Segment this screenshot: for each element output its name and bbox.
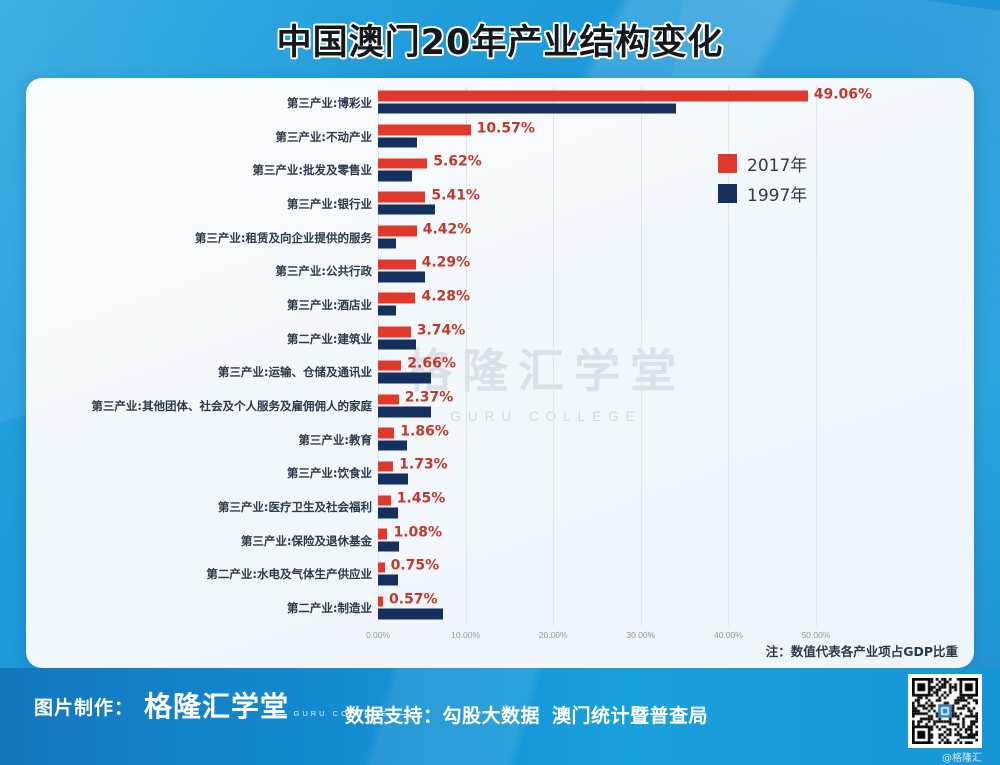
bar-1997	[378, 238, 396, 249]
bar-value-label: 3.74%	[417, 322, 466, 338]
bar-2017	[378, 125, 471, 136]
bar-value-label: 2.37%	[405, 390, 454, 406]
chart-row: 第三产业:教育1.86%	[26, 423, 974, 457]
bar-1997	[378, 305, 396, 316]
bar-group: 4.28%	[378, 291, 974, 318]
bar-chart-plot: 第三产业:博彩业49.06%第三产业:不动产业10.57%第三产业:批发及零售业…	[26, 78, 974, 668]
bar-group: 2.37%	[378, 393, 974, 420]
bar-value-label: 4.28%	[421, 288, 470, 304]
chart-row: 第三产业:不动产业10.57%	[26, 120, 974, 154]
chart-row: 第三产业:运输、仓储及通讯业2.66%	[26, 356, 974, 390]
bar-1997	[378, 339, 416, 350]
qr-code-icon[interactable]	[908, 674, 982, 748]
bar-2017	[378, 360, 401, 371]
bar-group: 1.73%	[378, 460, 974, 487]
chart-row: 第三产业:保险及退休基金1.08%	[26, 524, 974, 558]
qr-block[interactable]: @格隆汇	[908, 674, 982, 764]
legend-swatch-icon	[718, 184, 737, 203]
bar-1997	[378, 204, 435, 215]
bar-1997	[378, 373, 431, 384]
chart-footnote: 注：数值代表各产业项占GDP比重	[766, 641, 958, 660]
category-label: 第三产业:不动产业	[26, 129, 372, 145]
bar-2017	[378, 259, 416, 270]
bar-2017	[378, 461, 393, 472]
bar-value-label: 49.06%	[814, 86, 872, 102]
x-axis-tick: 0.00%	[366, 630, 390, 640]
chart-row: 第三产业:租赁及向企业提供的服务4.42%	[26, 221, 974, 255]
source-prefix-label: 数据支持：	[345, 705, 443, 727]
category-label: 第三产业:医疗卫生及社会福利	[26, 499, 372, 515]
bar-2017	[378, 293, 415, 304]
title-bar: 中国澳门20年产业结构变化	[0, 14, 1000, 65]
legend-label: 1997年	[747, 181, 807, 206]
chart-row: 第二产业:建筑业3.74%	[26, 322, 974, 356]
category-label: 第三产业:公共行政	[26, 263, 372, 279]
bar-2017	[378, 394, 399, 405]
bar-2017	[378, 91, 808, 102]
chart-title: 中国澳门20年产业结构变化	[277, 14, 724, 65]
bar-value-label: 1.73%	[399, 457, 448, 473]
bar-value-label: 5.41%	[431, 187, 480, 203]
category-label: 第三产业:租赁及向企业提供的服务	[26, 230, 372, 246]
category-label: 第三产业:其他团体、社会及个人服务及雇佣佣人的家庭	[26, 398, 372, 414]
legend-label: 2017年	[747, 151, 807, 176]
bar-1997	[378, 474, 408, 485]
bar-2017	[378, 495, 391, 506]
chart-card: 格隆汇学堂 GURU COLLEGE 第三产业:博彩业49.06%第三产业:不动…	[26, 78, 974, 668]
bar-group: 0.75%	[378, 561, 974, 588]
bar-group: 4.42%	[378, 224, 974, 251]
data-source-credit: 数据支持：勾股大数据澳门统计暨普查局	[345, 701, 708, 728]
bar-1997	[378, 171, 412, 182]
bar-2017	[378, 562, 385, 573]
bar-value-label: 5.62%	[433, 154, 482, 170]
bar-group: 3.74%	[378, 325, 974, 352]
qr-handle-label: @格隆汇	[908, 749, 982, 764]
bar-1997	[378, 137, 417, 148]
bar-1997	[378, 103, 676, 114]
category-label: 第二产业:水电及气体生产供应业	[26, 566, 372, 582]
category-label: 第三产业:银行业	[26, 196, 372, 212]
chart-row: 第三产业:饮食业1.73%	[26, 457, 974, 491]
category-label: 第二产业:建筑业	[26, 331, 372, 347]
chart-row: 第三产业:其他团体、社会及个人服务及雇佣佣人的家庭2.37%	[26, 389, 974, 423]
bar-value-label: 0.57%	[389, 592, 438, 608]
bar-value-label: 1.86%	[400, 423, 449, 439]
chart-row: 第二产业:制造业0.57%	[26, 591, 974, 625]
chart-row: 第二产业:水电及气体生产供应业0.75%	[26, 558, 974, 592]
brand-name-cn: 格隆汇学堂	[144, 690, 289, 723]
bar-2017	[378, 158, 427, 169]
legend-item[interactable]: 2017年	[718, 148, 807, 178]
chart-legend: 2017年1997年	[718, 148, 807, 208]
chart-row: 第三产业:银行业5.41%	[26, 187, 974, 221]
bar-2017	[378, 428, 394, 439]
bar-group: 1.86%	[378, 426, 974, 453]
bar-group: 2.66%	[378, 359, 974, 386]
x-axis: 0.00%10.00%20.00%30.00%40.00%50.00%	[378, 626, 816, 648]
bar-2017	[378, 327, 411, 338]
x-axis-tick: 50.00%	[802, 630, 831, 640]
legend-swatch-icon	[718, 154, 737, 173]
x-axis-tick: 20.00%	[539, 630, 568, 640]
bar-1997	[378, 609, 443, 620]
bar-2017	[378, 226, 417, 237]
legend-item[interactable]: 1997年	[718, 178, 807, 208]
bar-value-label: 1.08%	[393, 524, 442, 540]
bar-2017	[378, 192, 425, 203]
category-label: 第三产业:批发及零售业	[26, 162, 372, 178]
category-label: 第三产业:饮食业	[26, 465, 372, 481]
x-axis-tick: 10.00%	[451, 630, 480, 640]
bar-1997	[378, 272, 425, 283]
bar-value-label: 1.45%	[397, 491, 446, 507]
bar-group: 4.29%	[378, 258, 974, 285]
bar-group: 1.45%	[378, 494, 974, 521]
category-label: 第三产业:酒店业	[26, 297, 372, 313]
category-label: 第三产业:保险及退休基金	[26, 533, 372, 549]
bar-group: 1.08%	[378, 527, 974, 554]
bar-2017	[378, 596, 383, 607]
maker-prefix-label: 图片制作：	[34, 693, 134, 720]
category-label: 第三产业:运输、仓储及通讯业	[26, 364, 372, 380]
bar-rows: 第三产业:博彩业49.06%第三产业:不动产业10.57%第三产业:批发及零售业…	[26, 86, 974, 625]
chart-row: 第三产业:酒店业4.28%	[26, 288, 974, 322]
bar-group: 0.57%	[378, 595, 974, 622]
bar-value-label: 10.57%	[477, 120, 535, 136]
bar-value-label: 4.42%	[423, 221, 472, 237]
poster-root: 中国澳门20年产业结构变化 格隆汇学堂 GURU COLLEGE 第三产业:博彩…	[0, 0, 1000, 765]
category-label: 第三产业:博彩业	[26, 95, 372, 111]
bar-1997	[378, 541, 399, 552]
footer-bar: 图片制作： 格隆汇学堂 GURU COLLEGE 数据支持：勾股大数据澳门统计暨…	[0, 668, 1000, 765]
source-name-1: 勾股大数据	[443, 705, 541, 727]
bar-group: 5.62%	[378, 157, 974, 184]
bar-group: 49.06%	[378, 89, 974, 116]
bar-1997	[378, 508, 398, 519]
bar-group: 5.41%	[378, 190, 974, 217]
category-label: 第三产业:教育	[26, 432, 372, 448]
bar-1997	[378, 440, 407, 451]
bar-value-label: 4.29%	[422, 255, 471, 271]
x-axis-tick: 40.00%	[714, 630, 743, 640]
bar-group: 10.57%	[378, 123, 974, 150]
bar-2017	[378, 529, 387, 540]
bar-1997	[378, 407, 431, 418]
chart-row: 第三产业:医疗卫生及社会福利1.45%	[26, 490, 974, 524]
maker-credit: 图片制作： 格隆汇学堂 GURU COLLEGE	[34, 692, 389, 721]
chart-row: 第三产业:公共行政4.29%	[26, 254, 974, 288]
x-axis-tick: 30.00%	[626, 630, 655, 640]
bar-value-label: 2.66%	[407, 356, 456, 372]
bar-value-label: 0.75%	[391, 558, 440, 574]
chart-row: 第三产业:博彩业49.06%	[26, 86, 974, 120]
bar-1997	[378, 575, 398, 586]
category-label: 第二产业:制造业	[26, 600, 372, 616]
source-name-2: 澳门统计暨普查局	[552, 705, 708, 727]
chart-row: 第三产业:批发及零售业5.62%	[26, 153, 974, 187]
